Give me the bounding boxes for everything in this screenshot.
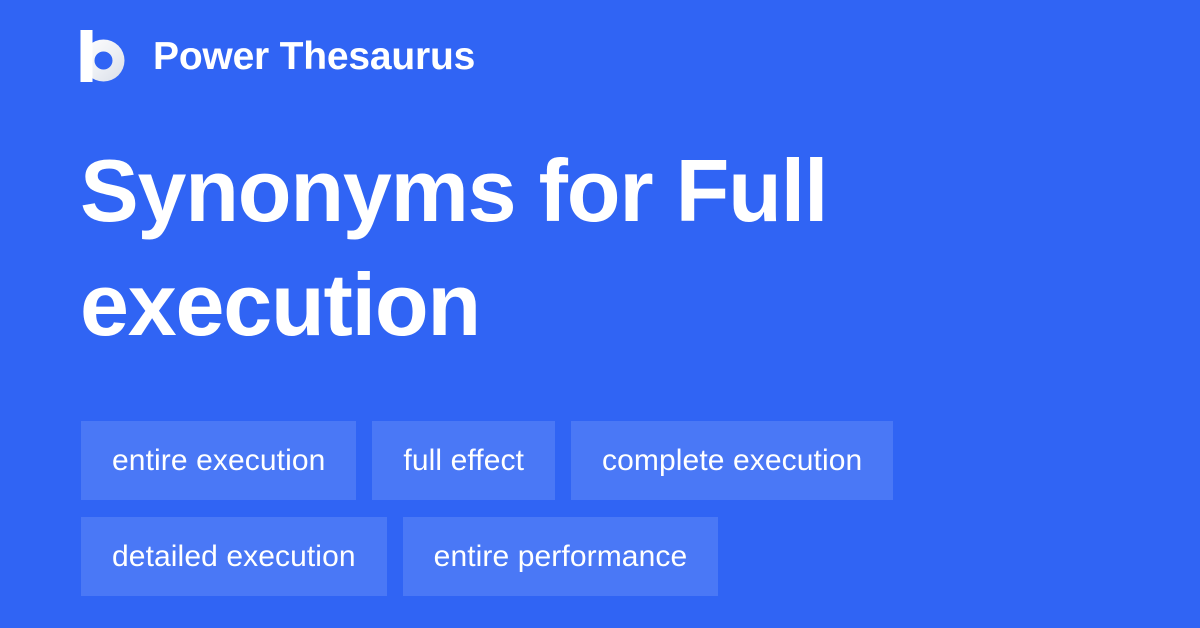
synonym-tag-row: detailed execution entire performance <box>81 517 1121 596</box>
synonym-tag[interactable]: entire performance <box>403 517 719 596</box>
brand-header[interactable]: Power Thesaurus <box>80 28 475 84</box>
synonym-tag[interactable]: complete execution <box>571 421 893 500</box>
brand-name: Power Thesaurus <box>153 37 475 76</box>
synonym-tag[interactable]: entire execution <box>81 421 356 500</box>
synonym-tag-row: entire execution full effect complete ex… <box>81 421 1121 500</box>
synonym-tag[interactable]: full effect <box>372 421 555 500</box>
synonym-tag-list: entire execution full effect complete ex… <box>81 421 1121 596</box>
synonym-tag[interactable]: detailed execution <box>81 517 387 596</box>
page-title: Synonyms for Full execution <box>80 134 1100 362</box>
share-card: Power Thesaurus Synonyms for Full execut… <box>0 0 1200 628</box>
power-thesaurus-logo-icon <box>80 30 126 82</box>
